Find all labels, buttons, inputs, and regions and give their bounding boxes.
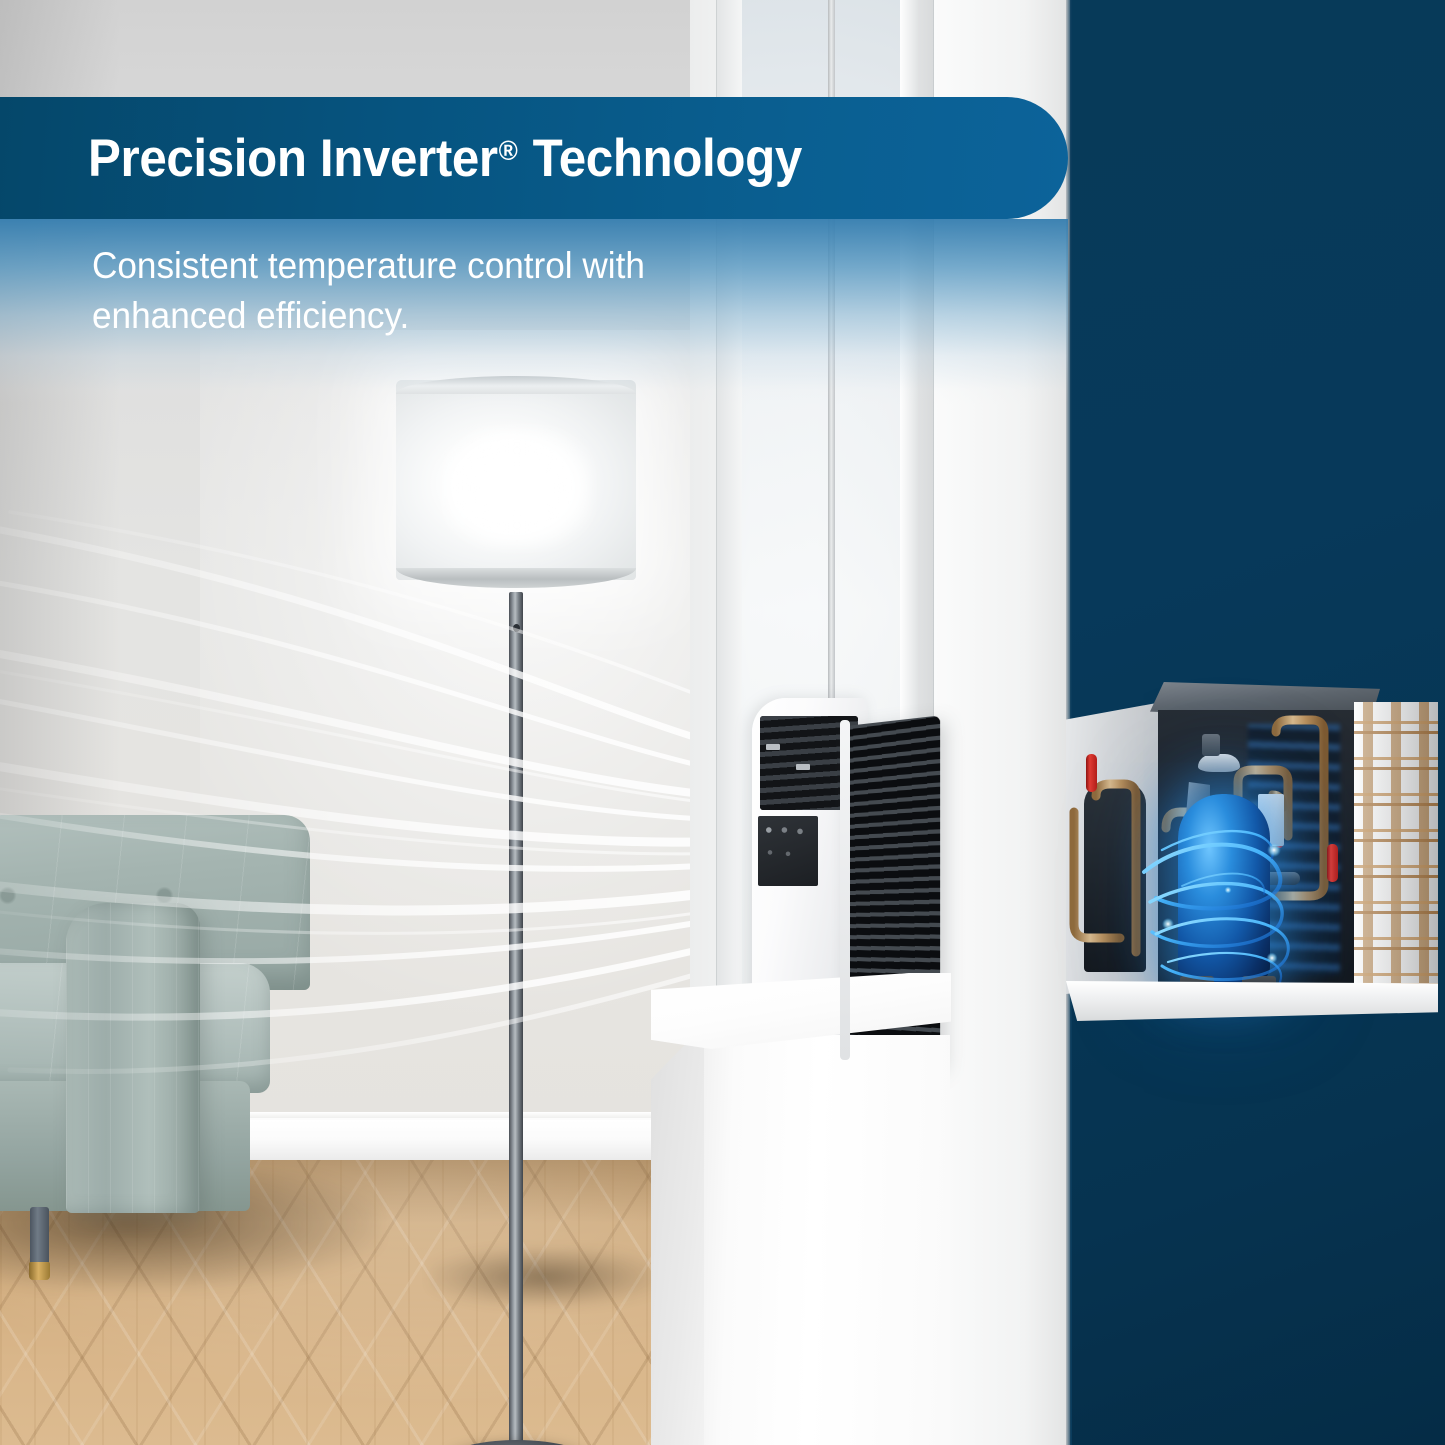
lamp-shade	[396, 380, 636, 580]
service-valve-cap	[1327, 844, 1338, 882]
subheadline: Consistent temperature control with enha…	[92, 241, 738, 341]
tufted-sofa	[0, 815, 370, 1285]
fan-motor-mount	[1202, 734, 1220, 756]
headline-banner: Precision Inverter® Technology	[0, 97, 1068, 219]
lamp-floor-shadow	[430, 1248, 660, 1306]
registered-trademark-icon: ®	[499, 135, 518, 166]
subheadline-line-2: enhanced efficiency.	[92, 291, 738, 341]
ledge-front-face	[704, 1035, 950, 1445]
lamp-bulb-glow	[442, 428, 592, 548]
marketing-feature-graphic: Precision Inverter® Technology Consisten…	[0, 0, 1445, 1445]
sofa-leg	[30, 1207, 49, 1265]
accumulator-dome	[1198, 754, 1240, 772]
page-title: Precision Inverter® Technology	[88, 128, 802, 189]
condenser-coil-shading	[1354, 702, 1438, 992]
lamp-pole	[509, 592, 523, 1445]
ac-body-seam	[840, 720, 850, 1060]
ac-vent-vane	[796, 764, 810, 770]
service-valve-cap	[1086, 754, 1097, 792]
ac-control-panel[interactable]	[758, 816, 818, 886]
inverter-compressor	[1178, 794, 1270, 984]
ac-vent-vane	[766, 744, 780, 750]
ledge-side-face	[651, 1020, 709, 1445]
title-prefix: Precision Inverter	[88, 129, 498, 188]
outdoor-condenser-unit-cutaway	[1062, 676, 1445, 1046]
subheadline-line-1: Consistent temperature control with	[92, 241, 738, 291]
title-suffix: Technology	[519, 129, 802, 188]
sofa-armrest	[66, 903, 200, 1213]
floor-lamp	[396, 380, 646, 580]
lamp-switch-icon	[513, 624, 520, 632]
